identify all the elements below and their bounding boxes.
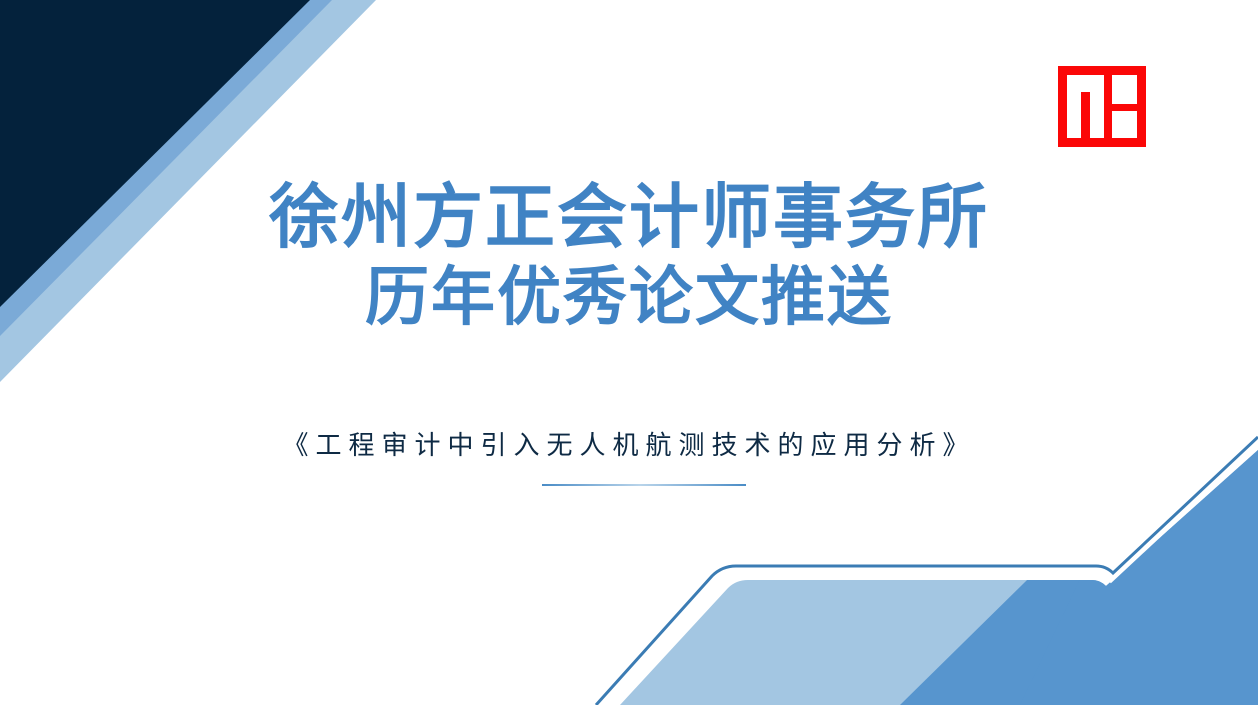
bottom-shape-gap: [600, 440, 1258, 705]
bottom-shape-outline: [596, 437, 1258, 705]
bottom-shape-fill: [620, 450, 1258, 705]
title-block: 徐州方正会计师事务所 历年优秀论文推送: [0, 182, 1258, 330]
slide-subtitle-paper-title: 《工程审计中引入无人机航测技术的应用分析》: [0, 425, 1258, 462]
fangzheng-logo-mark: [1058, 66, 1146, 147]
logo-cut-right-top: [1112, 75, 1137, 104]
slide-title-line-2: 历年优秀论文推送: [0, 266, 1258, 330]
logo-cut-inner-channel: [1090, 75, 1104, 138]
logo-cut-right-bottom: [1112, 111, 1137, 138]
title-divider: [542, 484, 746, 486]
presentation-slide: 徐州方正会计师事务所 历年优秀论文推送 《工程审计中引入无人机航测技术的应用分析…: [0, 0, 1258, 705]
slide-title-line-1: 徐州方正会计师事务所: [0, 182, 1258, 252]
